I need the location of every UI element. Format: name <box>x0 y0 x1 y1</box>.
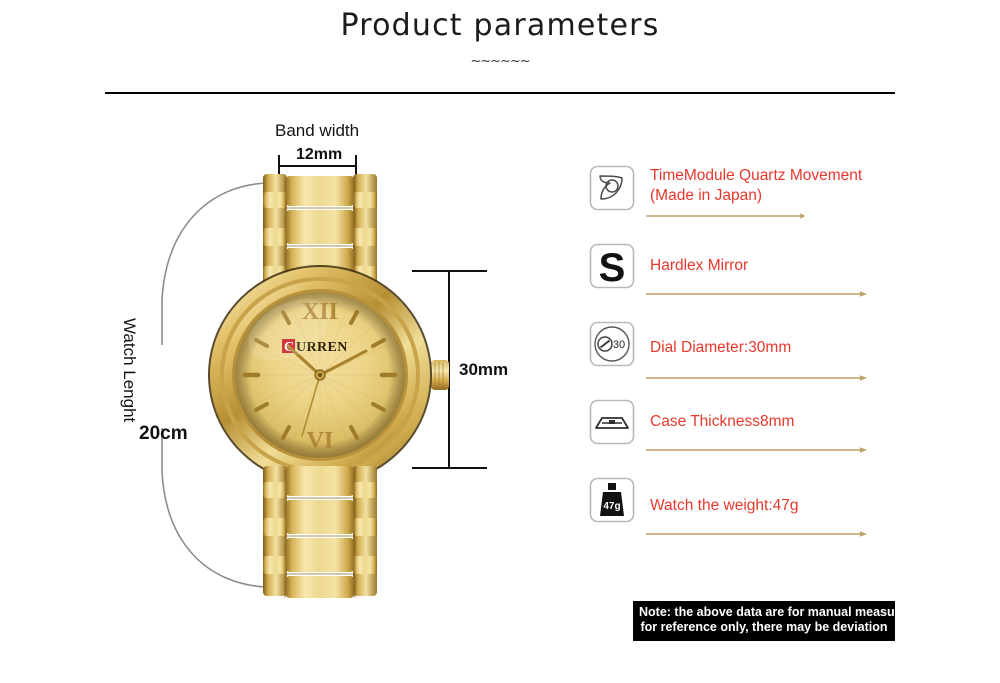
feature-row-case-thickness: Case Thickness8mm <box>588 394 918 472</box>
feature-label-dial-diameter-line1: Dial Diameter:30mm <box>650 338 918 358</box>
feature-label-movement-line2: (Made in Japan) <box>650 186 918 206</box>
product-parameters-infographic: Product parameters ~~~~~~ Band width 12m… <box>0 0 1000 683</box>
header-divider <box>105 92 895 94</box>
band-width-label: Band width <box>275 121 359 141</box>
title-squiggle-ornament: ~~~~~~ <box>0 54 1000 69</box>
watch-length-value: 20cm <box>139 423 188 445</box>
feature-label-mirror-line1: Hardlex Mirror <box>650 256 918 276</box>
bracelet-lower <box>263 466 377 598</box>
feature-label-movement-line1: TimeModule Quartz Movement <box>650 166 918 186</box>
feature-list: TimeModule Quartz Movement (Made in Japa… <box>588 160 918 550</box>
feature-arrow-movement <box>646 212 806 220</box>
note-line1: Note: the above data are for manual meas… <box>639 605 889 620</box>
note-banner: Note: the above data are for manual meas… <box>633 601 895 641</box>
dial-diameter-icon: 30 <box>588 320 636 368</box>
feature-row-movement: TimeModule Quartz Movement (Made in Japa… <box>588 160 918 238</box>
feature-row-dial-diameter: 30 Dial Diameter:30mm <box>588 316 918 394</box>
watch-length-label: Watch Lenght <box>119 318 139 422</box>
dial-diameter-icon-value: 30 <box>613 339 625 351</box>
weight-icon-value: 47g <box>603 501 620 512</box>
feature-label-dial-diameter: Dial Diameter:30mm <box>650 338 918 358</box>
watch-product-image: XII VI C URREN <box>185 160 455 600</box>
watch-crown <box>431 360 449 390</box>
feature-row-mirror: S Hardlex Mirror <box>588 238 918 316</box>
feature-label-weight: Watch the weight:47g <box>650 496 918 516</box>
feature-label-case-thickness: Case Thickness8mm <box>650 412 918 432</box>
feature-label-case-thickness-line1: Case Thickness8mm <box>650 412 918 432</box>
feature-arrow-dial-diameter <box>646 374 868 382</box>
feature-label-mirror: Hardlex Mirror <box>650 256 918 276</box>
watch-head: XII VI C URREN <box>208 265 449 485</box>
page-title: Product parameters <box>0 8 1000 43</box>
note-line2: for reference only, there may be deviati… <box>639 620 889 635</box>
sapphire-s-icon: S <box>588 242 636 290</box>
feature-arrow-mirror <box>646 290 868 298</box>
dial-diameter-value: 30mm <box>459 360 508 380</box>
numeral-vi: VI <box>307 428 334 454</box>
weight-icon: 47g <box>588 476 636 524</box>
svg-text:S: S <box>599 246 626 290</box>
feature-arrow-weight <box>646 530 868 538</box>
feature-label-weight-line1: Watch the weight:47g <box>650 496 918 516</box>
feature-label-movement: TimeModule Quartz Movement (Made in Japa… <box>650 166 918 206</box>
feature-row-weight: 47g Watch the weight:47g <box>588 472 918 550</box>
movement-icon <box>588 164 636 212</box>
case-thickness-icon <box>588 398 636 446</box>
feature-arrow-case-thickness <box>646 446 868 454</box>
